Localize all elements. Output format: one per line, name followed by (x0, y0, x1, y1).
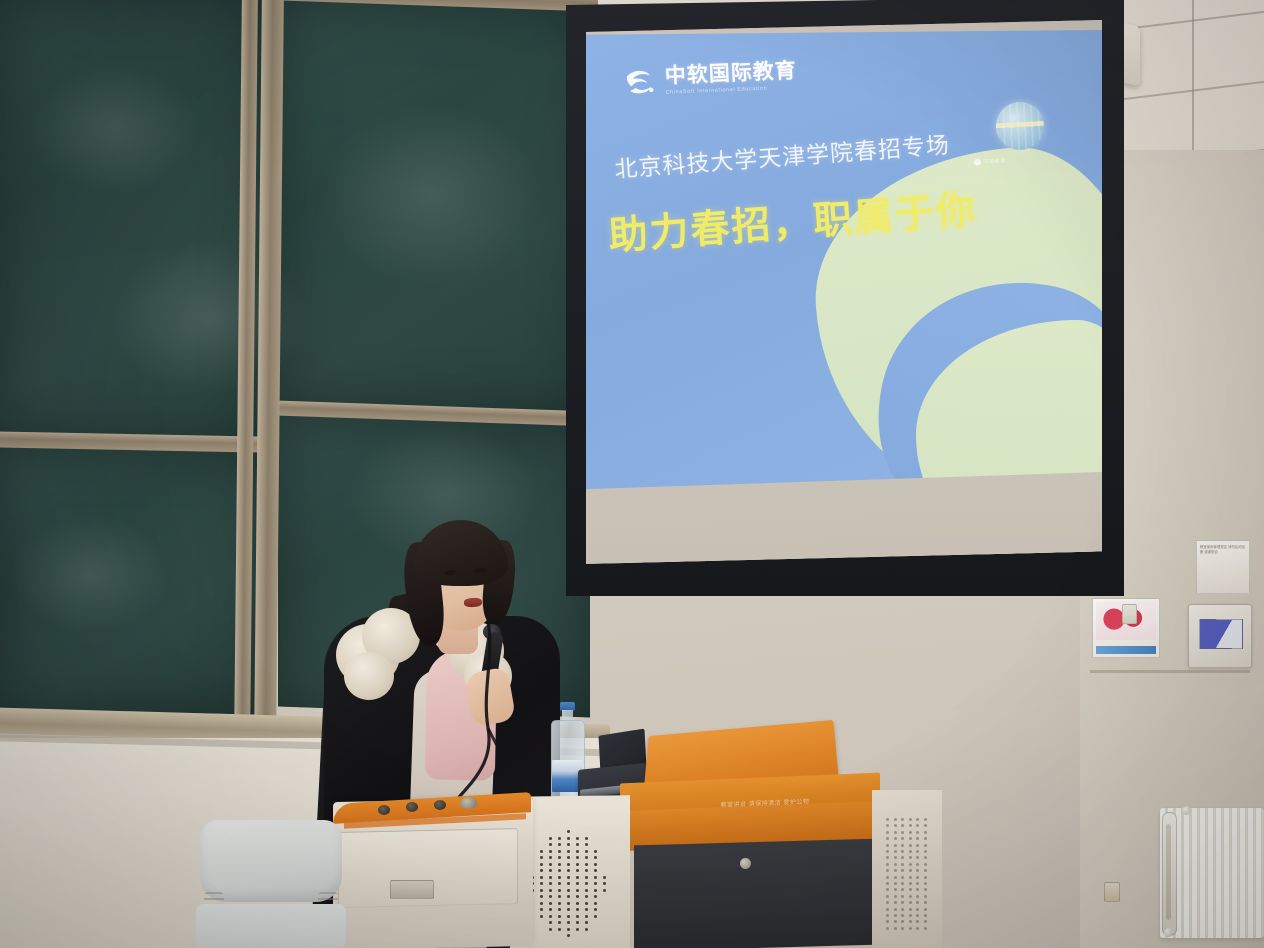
badge-dot-icon (974, 158, 981, 165)
grille-dot (894, 876, 897, 879)
grille-dot (916, 920, 919, 923)
radiator-bolt-top (1182, 806, 1191, 815)
grille-dot (909, 895, 912, 898)
grille-dot (549, 850, 552, 853)
grille-dot (594, 902, 597, 905)
grille-dot (576, 882, 579, 885)
grille-dot (909, 876, 912, 879)
grille-dot (576, 915, 579, 918)
grille-dot (567, 934, 570, 937)
lectern-cabinet (634, 839, 880, 948)
grille-dot (924, 818, 927, 821)
wall-rail (1090, 670, 1250, 673)
grille-dot (909, 844, 912, 847)
grille-dot (886, 818, 889, 821)
grille-dot (924, 869, 927, 872)
podium-knob-1[interactable] (378, 805, 390, 815)
grille-dot (901, 831, 904, 834)
grille-dot (886, 888, 889, 891)
grille-dot (924, 844, 927, 847)
wall-control-panel[interactable] (1188, 604, 1252, 668)
grille-dot (909, 850, 912, 853)
grille-dot (558, 889, 561, 892)
grille-dot (916, 837, 919, 840)
grille-dot (540, 915, 543, 918)
podium-speaker-grille (528, 828, 614, 940)
grille-dot (924, 914, 927, 917)
grille-dot (924, 895, 927, 898)
grille-dot (894, 869, 897, 872)
grille-dot (594, 895, 597, 898)
grille-dot (924, 863, 927, 866)
grille-dot (576, 908, 579, 911)
grille-dot (567, 876, 570, 879)
grille-dot (894, 850, 897, 853)
grille-dot (558, 869, 561, 872)
grille-dot (594, 882, 597, 885)
wall-notice: 教室使用管理规定 请勿乱动设备 谢谢配合 (1196, 540, 1250, 594)
side-speaker-grille (884, 816, 928, 934)
grille-dot (585, 902, 588, 905)
grille-dot (594, 863, 597, 866)
grille-dot (558, 850, 561, 853)
grille-dot (894, 824, 897, 827)
grille-dot (540, 882, 543, 885)
grille-dot (594, 889, 597, 892)
grille-dot (558, 837, 561, 840)
grille-dot (549, 837, 552, 840)
cabinet-knob[interactable] (740, 858, 751, 869)
grille-dot (585, 915, 588, 918)
grille-dot (924, 824, 927, 827)
grille-dot (924, 837, 927, 840)
grille-dot (585, 876, 588, 879)
grille-dot (576, 928, 579, 931)
grille-dot (909, 837, 912, 840)
grille-dot (901, 869, 904, 872)
grille-dot (916, 869, 919, 872)
chair-backrest (200, 820, 342, 902)
grille-dot (894, 882, 897, 885)
grille-dot (558, 843, 561, 846)
grille-dot (886, 882, 889, 885)
grille-dot (594, 856, 597, 859)
grille-dot (585, 856, 588, 859)
grille-dot (558, 921, 561, 924)
grille-dot (576, 837, 579, 840)
grille-dot (603, 889, 606, 892)
grille-dot (585, 863, 588, 866)
grille-dot (894, 831, 897, 834)
grille-dot (916, 863, 919, 866)
grille-dot (894, 856, 897, 859)
grille-dot (909, 824, 912, 827)
grille-dot (916, 844, 919, 847)
grille-dot (558, 928, 561, 931)
grille-dot (576, 921, 579, 924)
grille-dot (540, 889, 543, 892)
grille-dot (576, 843, 579, 846)
grille-dot (549, 915, 552, 918)
podium-knob-4[interactable] (460, 797, 477, 809)
grille-dot (558, 856, 561, 859)
grille-dot (901, 888, 904, 891)
grille-dot (567, 889, 570, 892)
plastic-chair (196, 820, 346, 948)
chinasoft-logo-mark (621, 64, 656, 99)
chair-seat (196, 904, 346, 948)
grille-dot (886, 856, 889, 859)
grille-dot (603, 876, 606, 879)
grille-dot (886, 908, 889, 911)
grille-dot (567, 895, 570, 898)
grille-dot (901, 901, 904, 904)
grille-dot (576, 869, 579, 872)
grille-dot (916, 888, 919, 891)
grille-dot (886, 831, 889, 834)
badge-label: 开放教育 (984, 157, 1006, 165)
grille-dot (585, 843, 588, 846)
grille-dot (549, 908, 552, 911)
grille-dot (916, 876, 919, 879)
grille-dot (916, 895, 919, 898)
classroom-photo: 中软国际教育 ChinaSoft International Education… (0, 0, 1264, 948)
grille-dot (576, 863, 579, 866)
grille-dot (886, 876, 889, 879)
radiator-bolt-bottom (1164, 928, 1173, 937)
grille-dot (886, 844, 889, 847)
grille-dot (901, 824, 904, 827)
grille-dot (540, 869, 543, 872)
grille-dot (567, 928, 570, 931)
grille-dot (894, 818, 897, 821)
grille-dot (886, 927, 889, 930)
grille-dot (886, 863, 889, 866)
grille-dot (567, 830, 570, 833)
grille-dot (585, 850, 588, 853)
grille-dot (894, 908, 897, 911)
grille-dot (924, 876, 927, 879)
grille-dot (909, 882, 912, 885)
grille-dot (894, 901, 897, 904)
grille-dot (886, 914, 889, 917)
grille-dot (594, 850, 597, 853)
grille-dot (558, 895, 561, 898)
grille-dot (549, 843, 552, 846)
grille-dot (540, 902, 543, 905)
podium-knob-3[interactable] (434, 800, 446, 810)
microphone-cable (430, 620, 550, 820)
grille-dot (576, 856, 579, 859)
grille-dot (549, 876, 552, 879)
grille-dot (894, 895, 897, 898)
grille-dot (909, 856, 912, 859)
grille-dot (909, 901, 912, 904)
grille-dot (886, 824, 889, 827)
hair (414, 520, 508, 586)
grille-dot (916, 927, 919, 930)
grille-dot (901, 927, 904, 930)
grille-dot (603, 882, 606, 885)
grille-dot (924, 901, 927, 904)
grille-dot (585, 928, 588, 931)
grille-dot (909, 927, 912, 930)
grille-dot (567, 882, 570, 885)
logo-chinese-text: 中软国际教育 (664, 60, 797, 87)
grille-dot (585, 895, 588, 898)
grille-dot (558, 863, 561, 866)
grille-dot (886, 850, 889, 853)
grille-dot (540, 895, 543, 898)
grille-dot (540, 863, 543, 866)
grille-dot (916, 856, 919, 859)
grille-dot (924, 856, 927, 859)
grille-dot (585, 908, 588, 911)
grille-dot (540, 856, 543, 859)
grille-dot (901, 876, 904, 879)
podium-nameplate (390, 880, 434, 899)
grille-dot (585, 869, 588, 872)
grille-dot (549, 895, 552, 898)
grille-dot (894, 837, 897, 840)
grille-dot (909, 888, 912, 891)
grille-dot (901, 844, 904, 847)
grille-dot (901, 882, 904, 885)
grille-dot (924, 882, 927, 885)
grille-dot (886, 895, 889, 898)
grille-dot (924, 927, 927, 930)
grille-dot (576, 889, 579, 892)
grille-dot (576, 850, 579, 853)
grille-dot (886, 869, 889, 872)
control-panel-display (1199, 619, 1243, 649)
grille-dot (916, 818, 919, 821)
grille-dot (901, 908, 904, 911)
grille-dot (567, 863, 570, 866)
grille-dot (567, 902, 570, 905)
grille-dot (558, 882, 561, 885)
grille-dot (924, 888, 927, 891)
grille-dot (567, 869, 570, 872)
podium-knob-2[interactable] (406, 802, 418, 812)
grille-dot (567, 837, 570, 840)
grille-dot (909, 908, 912, 911)
grille-dot (916, 824, 919, 827)
grille-dot (558, 902, 561, 905)
grille-dot (567, 856, 570, 859)
grille-dot (594, 908, 597, 911)
grille-dot (558, 876, 561, 879)
grille-dot (567, 850, 570, 853)
grille-dot (567, 921, 570, 924)
grille-dot (909, 914, 912, 917)
grille-dot (909, 863, 912, 866)
presentation-slide: 中软国际教育 ChinaSoft International Education… (586, 20, 1102, 565)
grille-dot (894, 927, 897, 930)
grille-dot (549, 902, 552, 905)
grille-dot (549, 869, 552, 872)
grille-dot (594, 869, 597, 872)
grille-dot (540, 876, 543, 879)
grille-dot (549, 863, 552, 866)
grille-dot (558, 915, 561, 918)
grille-dot (576, 876, 579, 879)
grille-dot (916, 914, 919, 917)
grille-dot (909, 831, 912, 834)
grille-dot (567, 915, 570, 918)
grille-dot (886, 901, 889, 904)
grille-dot (916, 831, 919, 834)
grille-dot (894, 863, 897, 866)
grille-dot (567, 843, 570, 846)
grille-dot (886, 837, 889, 840)
grille-dot (585, 921, 588, 924)
grille-dot (585, 837, 588, 840)
grille-dot (901, 920, 904, 923)
grille-dot (576, 895, 579, 898)
projector-screen-surface[interactable]: 中软国际教育 ChinaSoft International Education… (586, 20, 1102, 565)
grille-dot (924, 831, 927, 834)
grille-dot (540, 908, 543, 911)
grille-dot (916, 850, 919, 853)
grille-dot (901, 914, 904, 917)
grille-dot (901, 863, 904, 866)
grille-dot (924, 908, 927, 911)
grille-dot (901, 850, 904, 853)
grille-dot (576, 902, 579, 905)
grille-dot (567, 908, 570, 911)
grille-dot (558, 908, 561, 911)
grille-dot (901, 818, 904, 821)
grille-dot (916, 901, 919, 904)
grille-dot (916, 882, 919, 885)
grille-dot (549, 882, 552, 885)
grille-dot (549, 921, 552, 924)
grille-dot (585, 889, 588, 892)
grille-dot (886, 920, 889, 923)
grille-dot (594, 876, 597, 879)
grille-dot (901, 856, 904, 859)
radiator-slot (1166, 824, 1171, 920)
grille-dot (894, 888, 897, 891)
grille-dot (924, 920, 927, 923)
grille-dot (924, 850, 927, 853)
grille-dot (901, 895, 904, 898)
grille-dot (909, 869, 912, 872)
grille-dot (549, 856, 552, 859)
grille-dot (585, 882, 588, 885)
grille-dot (594, 915, 597, 918)
grille-dot (894, 844, 897, 847)
grille-dot (901, 837, 904, 840)
grille-dot (894, 914, 897, 917)
power-outlet (1104, 882, 1120, 902)
grille-dot (540, 850, 543, 853)
light-switch[interactable] (1122, 604, 1137, 624)
grille-dot (909, 818, 912, 821)
grille-dot (894, 920, 897, 923)
grille-dot (916, 908, 919, 911)
grille-dot (909, 920, 912, 923)
grille-dot (549, 889, 552, 892)
grille-dot (549, 928, 552, 931)
